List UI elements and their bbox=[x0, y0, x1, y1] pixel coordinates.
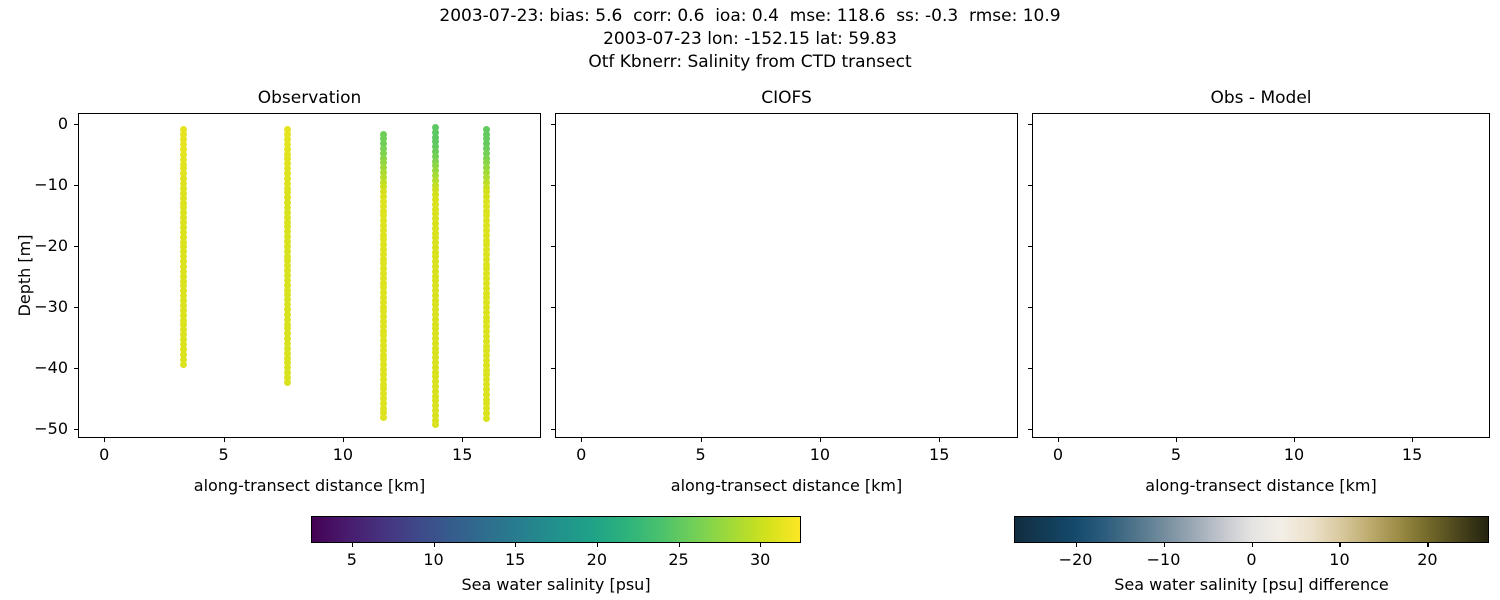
y-tick bbox=[551, 185, 555, 186]
plot-axes-3 bbox=[1032, 113, 1490, 438]
x-tick-label: 5 bbox=[194, 445, 254, 464]
colorbar-tick bbox=[352, 543, 353, 547]
colorbar-tick-label: 10 bbox=[1304, 550, 1374, 569]
colorbar-tick bbox=[1252, 543, 1253, 547]
panel-title-observation: Observation bbox=[78, 88, 541, 108]
y-tick bbox=[1028, 246, 1032, 247]
x-axis-label-3: along-transect distance [km] bbox=[1032, 476, 1490, 495]
x-tick bbox=[1058, 438, 1059, 442]
y-tick bbox=[551, 429, 555, 430]
x-tick bbox=[343, 438, 344, 442]
x-tick-label: 10 bbox=[1264, 445, 1324, 464]
x-tick bbox=[820, 438, 821, 442]
plot-axes-1 bbox=[78, 113, 541, 438]
colorbar-tick-label: 20 bbox=[562, 550, 632, 569]
x-tick-label: 15 bbox=[432, 445, 492, 464]
colorbar-tick-label: −10 bbox=[1129, 550, 1199, 569]
y-tick bbox=[74, 368, 78, 369]
y-tick bbox=[1028, 429, 1032, 430]
x-tick bbox=[581, 438, 582, 442]
colorbar-tick-label: 0 bbox=[1217, 550, 1287, 569]
y-tick bbox=[551, 124, 555, 125]
panel-title-obs-model: Obs - Model bbox=[1032, 88, 1490, 108]
suptitle-dataset: Otf Kbnerr: Salinity from CTD transect bbox=[0, 51, 1500, 73]
y-axis-label: Depth [m] bbox=[15, 113, 34, 438]
x-axis-label-1: along-transect distance [km] bbox=[78, 476, 541, 495]
y-tick bbox=[1028, 307, 1032, 308]
x-tick bbox=[224, 438, 225, 442]
colorbar-tick bbox=[1339, 543, 1340, 547]
colorbar-tick-label: 25 bbox=[644, 550, 714, 569]
x-tick-label: 15 bbox=[909, 445, 969, 464]
y-tick bbox=[74, 124, 78, 125]
colorbar-tick bbox=[1076, 543, 1077, 547]
y-tick bbox=[551, 307, 555, 308]
panel-title-ciofs: CIOFS bbox=[555, 88, 1018, 108]
y-tick bbox=[74, 246, 78, 247]
x-tick bbox=[1412, 438, 1413, 442]
colorbar-label-difference: Sea water salinity [psu] difference bbox=[954, 575, 1500, 594]
x-axis-label-2: along-transect distance [km] bbox=[555, 476, 1018, 495]
colorbar-tick bbox=[1427, 543, 1428, 547]
y-tick bbox=[74, 429, 78, 430]
colorbar-tick-label: 10 bbox=[399, 550, 469, 569]
colorbar-tick-label: −20 bbox=[1041, 550, 1111, 569]
colorbar-salinity bbox=[311, 516, 801, 543]
data-point bbox=[284, 379, 291, 386]
y-tick bbox=[1028, 124, 1032, 125]
x-tick bbox=[701, 438, 702, 442]
colorbar-tick-label: 15 bbox=[480, 550, 550, 569]
colorbar-label-salinity: Sea water salinity [psu] bbox=[251, 575, 861, 594]
colorbar-tick-label: 20 bbox=[1392, 550, 1462, 569]
x-tick bbox=[104, 438, 105, 442]
colorbar-tick bbox=[515, 543, 516, 547]
data-point bbox=[380, 414, 387, 421]
colorbar-difference bbox=[1014, 516, 1489, 543]
data-point bbox=[180, 361, 187, 368]
suptitle-stats: 2003-07-23: bias: 5.6 corr: 0.6 ioa: 0.4… bbox=[0, 5, 1500, 27]
x-tick bbox=[1176, 438, 1177, 442]
x-tick-label: 10 bbox=[313, 445, 373, 464]
data-point bbox=[483, 415, 490, 422]
x-tick-label: 0 bbox=[551, 445, 611, 464]
colorbar-tick bbox=[760, 543, 761, 547]
y-tick bbox=[551, 368, 555, 369]
y-tick bbox=[1028, 185, 1032, 186]
figure-canvas: 2003-07-23: bias: 5.6 corr: 0.6 ioa: 0.4… bbox=[0, 0, 1500, 600]
suptitle-location: 2003-07-23 lon: -152.15 lat: 59.83 bbox=[0, 28, 1500, 50]
x-tick bbox=[1294, 438, 1295, 442]
y-tick bbox=[74, 185, 78, 186]
colorbar-tick-label: 5 bbox=[317, 550, 387, 569]
x-tick bbox=[939, 438, 940, 442]
colorbar-tick bbox=[679, 543, 680, 547]
y-tick bbox=[74, 307, 78, 308]
x-tick-label: 15 bbox=[1382, 445, 1442, 464]
y-tick bbox=[551, 246, 555, 247]
data-point bbox=[432, 421, 439, 428]
x-tick-label: 10 bbox=[790, 445, 850, 464]
colorbar-tick bbox=[1164, 543, 1165, 547]
x-tick-label: 0 bbox=[74, 445, 134, 464]
y-tick bbox=[1028, 368, 1032, 369]
plot-axes-2 bbox=[555, 113, 1018, 438]
x-tick-label: 5 bbox=[1146, 445, 1206, 464]
colorbar-tick bbox=[597, 543, 598, 547]
x-tick bbox=[462, 438, 463, 442]
colorbar-tick bbox=[434, 543, 435, 547]
colorbar-tick-label: 30 bbox=[725, 550, 795, 569]
x-tick-label: 0 bbox=[1028, 445, 1088, 464]
x-tick-label: 5 bbox=[671, 445, 731, 464]
